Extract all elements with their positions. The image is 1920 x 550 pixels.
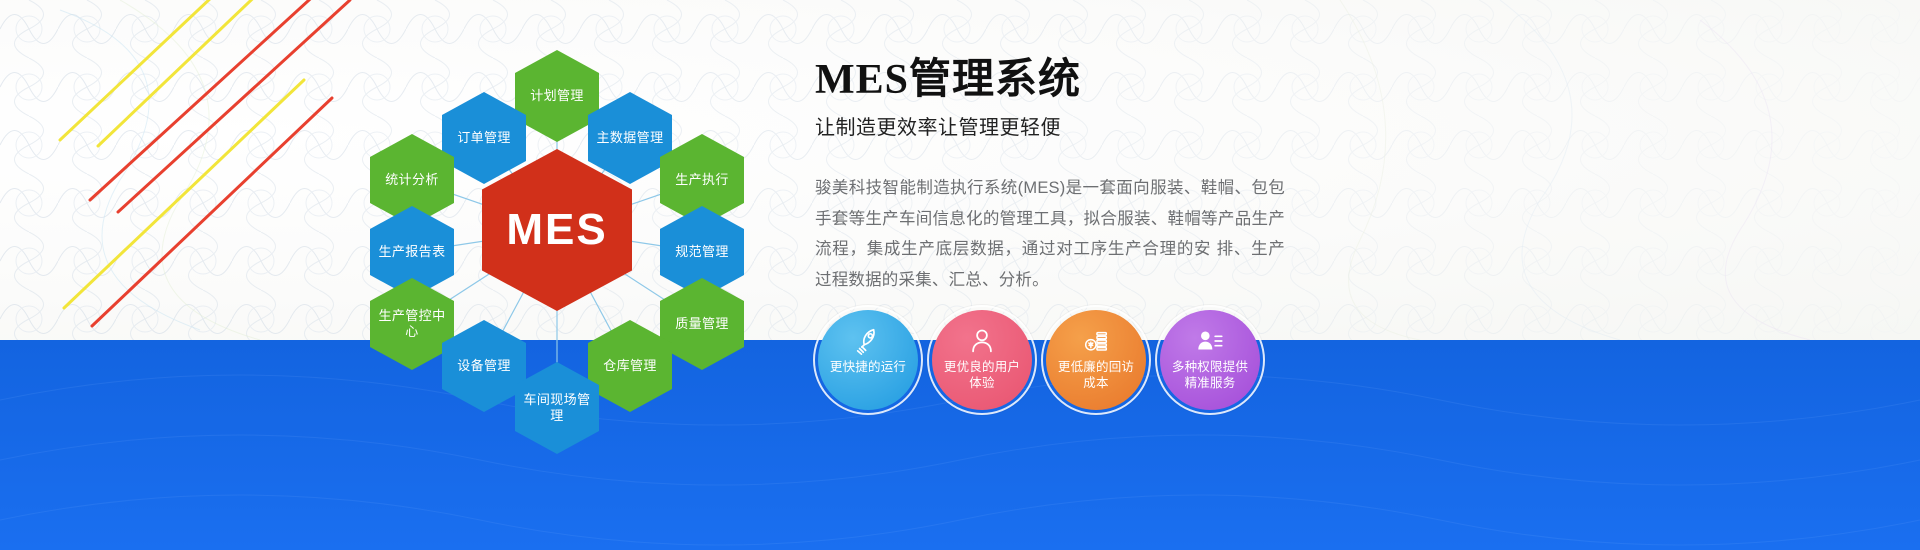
page-subtitle: 让制造更效率让管理更轻便 [815,111,1285,140]
hex-label: 计划管理 [526,88,588,104]
decorative-diagonal-lines [20,0,360,350]
hex-label: 规范管理 [671,244,733,260]
hex-center-label: MES [502,203,611,257]
rocket-icon [853,326,883,356]
banner-root: MES 计划管理 订单管理 主数据管理 统计分析 生产执行 生产报告表 规范管理… [0,0,1920,550]
hex-label: 设备管理 [453,358,515,374]
hex-label: 质量管理 [671,316,733,332]
divider [815,154,1285,155]
hex-label: 主数据管理 [592,130,667,146]
hex-label: 仓库管理 [599,358,661,374]
hex-label: 统计分析 [381,172,443,188]
hex-label: 生产报告表 [374,244,449,260]
user-list-icon [1195,326,1225,356]
badge-label: 更低廉的回访成本 [1046,360,1146,391]
feature-badge-row: 更快捷的运行 更优良的用户体验 [818,310,1260,410]
badge-label: 更快捷的运行 [823,360,913,376]
badge-better-user-experience[interactable]: 更优良的用户体验 [932,310,1032,410]
hex-label: 生产管控中心 [370,308,454,340]
coins-icon [1081,326,1111,356]
badge-faster-operation[interactable]: 更快捷的运行 [818,310,918,410]
mes-hexagon-diagram: MES 计划管理 订单管理 主数据管理 统计分析 生产执行 生产报告表 规范管理… [330,20,800,440]
hero-text-block: MES管理系统 让制造更效率让管理更轻便 骏美科技智能制造执行系统(MES)是一… [815,58,1285,295]
badge-label: 多种权限提供精准服务 [1160,360,1260,391]
hero-description: 骏美科技智能制造执行系统(MES)是一套面向服装、鞋帽、包包手套等生产车间信息化… [815,173,1285,295]
badge-multi-permission-service[interactable]: 多种权限提供精准服务 [1160,310,1260,410]
user-icon [967,326,997,356]
hex-label: 订单管理 [453,130,515,146]
hero-description-text: 骏美科技智能制造执行系统(MES)是一套面向服装、鞋帽、包包手套等生产车间信息化… [815,173,1285,295]
hex-label: 生产执行 [671,172,733,188]
page-title: MES管理系统 [815,58,1285,102]
badge-lower-revisit-cost[interactable]: 更低廉的回访成本 [1046,310,1146,410]
hex-label: 车间现场管理 [515,392,599,424]
badge-label: 更优良的用户体验 [932,360,1032,391]
